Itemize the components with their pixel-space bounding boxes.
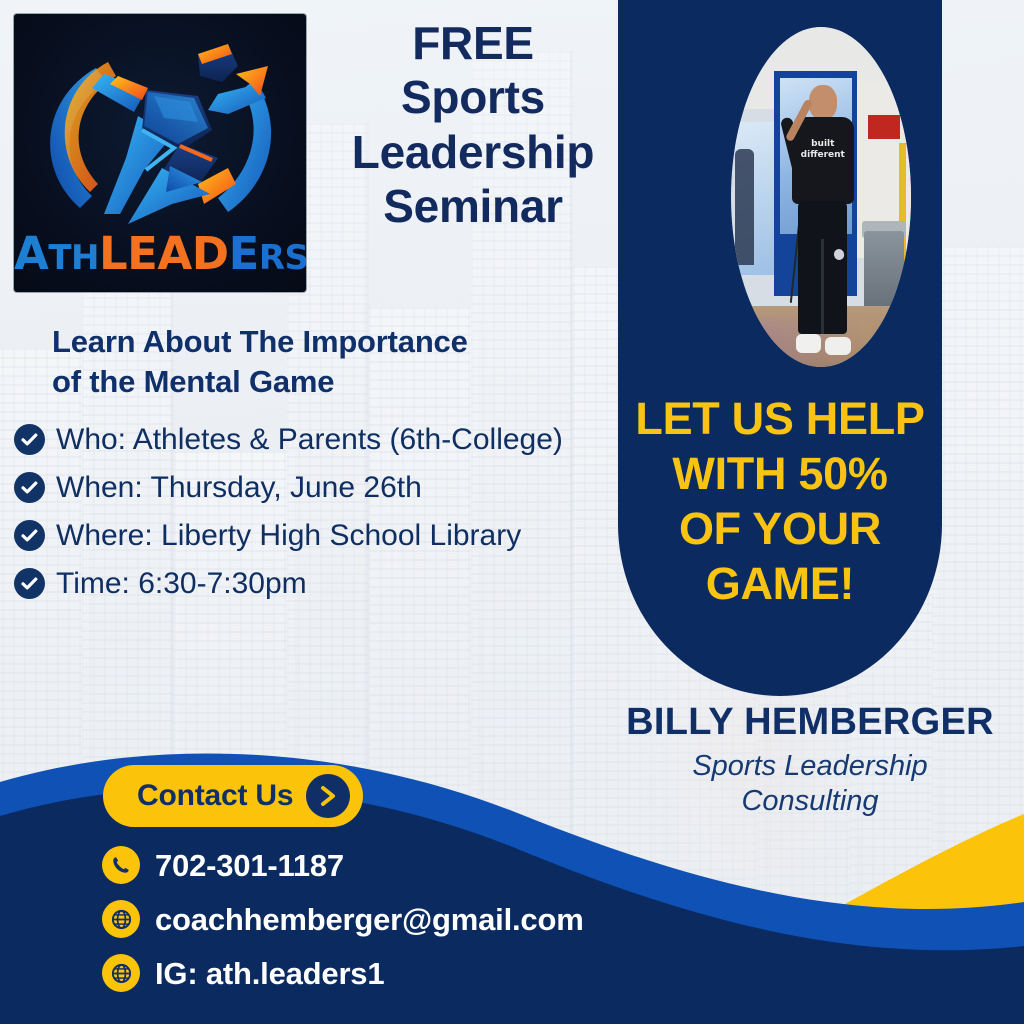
- contact-row-instagram[interactable]: IG: ath.leaders1: [102, 946, 584, 1000]
- shirt-text-line-1: built: [811, 139, 834, 149]
- logo-part-4: RS: [259, 238, 306, 278]
- event-details-list: Who: Athletes & Parents (6th-College) Wh…: [14, 416, 634, 608]
- logo-part-0: A: [14, 227, 48, 280]
- detail-text: Who: Athletes & Parents (6th-College): [56, 425, 563, 455]
- promo-line-3: GAME!: [622, 557, 938, 612]
- subtitle-line-0: Learn About The Importance: [52, 322, 612, 362]
- check-circle-icon: [14, 424, 45, 455]
- coach-shoe-right: [825, 337, 851, 356]
- running-athlete-icon: [22, 18, 298, 228]
- coach-shoe-left: [796, 334, 821, 353]
- list-item: When: Thursday, June 26th: [14, 464, 634, 511]
- headline-line-2: Leadership: [330, 125, 616, 179]
- list-item: Who: Athletes & Parents (6th-College): [14, 416, 634, 463]
- logo-part-1: TH: [48, 238, 99, 278]
- check-circle-icon: [14, 568, 45, 599]
- detail-text: Time: 6:30-7:30pm: [56, 569, 307, 599]
- detail-text: Where: Liberty High School Library: [56, 521, 521, 551]
- coach-portrait-photo: built different: [731, 27, 911, 367]
- red-sign: [868, 115, 900, 139]
- page-title: FREE Sports Leadership Seminar: [330, 16, 616, 233]
- globe-icon: [102, 900, 140, 938]
- check-circle-icon: [14, 472, 45, 503]
- contact-row-email[interactable]: coachhemberger@gmail.com: [102, 892, 584, 946]
- shirt-text-line-2: different: [801, 150, 845, 160]
- portrait-scene: built different: [731, 27, 911, 367]
- logo-part-3: E: [229, 227, 259, 280]
- contact-list: 702-301-1187 coachhemberger@gmail.com: [102, 838, 584, 1000]
- headline-line-1: Sports: [330, 70, 616, 124]
- globe-icon: [102, 954, 140, 992]
- promo-line-0: LET US HELP: [622, 392, 938, 447]
- flyer-canvas: ATHLEADERS FREE Sports Leadership Semina…: [0, 0, 1024, 1024]
- contact-us-button[interactable]: Contact Us: [103, 765, 363, 827]
- check-circle-icon: [14, 520, 45, 551]
- subtitle-line-1: of the Mental Game: [52, 362, 612, 402]
- promo-line-1: WITH 50%: [622, 447, 938, 502]
- phone-number: 702-301-1187: [155, 850, 344, 881]
- contact-row-phone[interactable]: 702-301-1187: [102, 838, 584, 892]
- logo-part-2: LEAD: [99, 227, 229, 280]
- phone-icon: [102, 846, 140, 884]
- promo-line-2: OF YOUR: [622, 502, 938, 557]
- coach-head: [809, 85, 838, 119]
- list-item: Where: Liberty High School Library: [14, 512, 634, 559]
- background-person: [735, 149, 755, 265]
- athleaders-logo-tile: ATHLEADERS: [14, 14, 306, 292]
- logo-wordmark: ATHLEADERS: [14, 231, 306, 276]
- list-item: Time: 6:30-7:30pm: [14, 560, 634, 607]
- instagram-handle: IG: ath.leaders1: [155, 958, 384, 989]
- leg-separation: [821, 239, 824, 334]
- headline-line-0: FREE: [330, 16, 616, 70]
- email-address: coachhemberger@gmail.com: [155, 904, 584, 935]
- contact-us-label: Contact Us: [137, 781, 293, 811]
- headline-line-3: Seminar: [330, 179, 616, 233]
- promo-headline: LET US HELP WITH 50% OF YOUR GAME!: [622, 392, 938, 612]
- detail-text: When: Thursday, June 26th: [56, 473, 422, 503]
- coach-figure: built different: [790, 85, 855, 350]
- subtitle: Learn About The Importance of the Mental…: [52, 322, 612, 401]
- chevron-right-icon[interactable]: [306, 774, 350, 818]
